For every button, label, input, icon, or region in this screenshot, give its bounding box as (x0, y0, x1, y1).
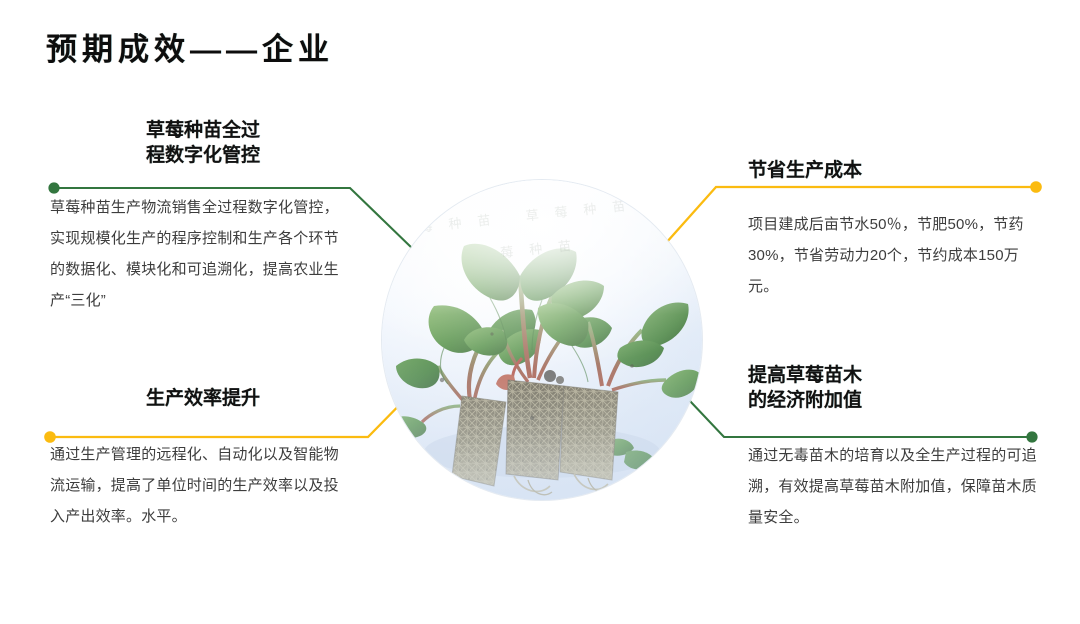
block-digital: 草莓种苗全过 程数字化管控 草莓种苗生产物流销售全过程数字化管控，实现规模化生产… (50, 118, 350, 316)
block-efficiency: 生产效率提升 通过生产管理的远程化、自动化以及智能物流运输，提高了单位时间的生产… (50, 386, 350, 532)
block-value-heading: 提高草莓苗木 的经济附加值 (748, 363, 1038, 413)
block-digital-heading-line-1: 草莓种苗全过 (56, 118, 350, 143)
strawberry-seedling-photo: 草莓种苗 草莓种苗 草莓种苗 (382, 180, 702, 500)
block-digital-heading: 草莓种苗全过 程数字化管控 (50, 118, 350, 168)
block-cost: 节省生产成本 项目建成后亩节水50％，节肥50%，节药30%，节省劳动力20个，… (748, 158, 1038, 302)
block-cost-heading-line-1: 节省生产成本 (748, 158, 1038, 183)
block-value-body: 通过无毒苗木的培育以及全生产过程的可追溯，有效提高草莓苗木附加值，保障苗木质量安… (748, 440, 1038, 533)
block-cost-body: 项目建成后亩节水50％，节肥50%，节药30%，节省劳动力20个，节约成本150… (748, 209, 1038, 302)
block-value-heading-line-2: 的经济附加值 (748, 388, 1038, 413)
block-efficiency-heading-line-1: 生产效率提升 (56, 386, 350, 411)
block-efficiency-heading: 生产效率提升 (50, 386, 350, 411)
block-digital-body: 草莓种苗生产物流销售全过程数字化管控，实现规模化生产的程序控制和生产各个环节的数… (50, 192, 350, 316)
block-value-heading-line-1: 提高草莓苗木 (748, 363, 1038, 388)
block-value: 提高草莓苗木 的经济附加值 通过无毒苗木的培育以及全生产过程的可追溯，有效提高草… (748, 363, 1038, 533)
block-cost-heading: 节省生产成本 (748, 158, 1038, 183)
slide-canvas: 预期成效——企业 (0, 0, 1080, 624)
block-efficiency-body: 通过生产管理的远程化、自动化以及智能物流运输，提高了单位时间的生产效率以及投入产… (50, 439, 350, 532)
block-digital-heading-line-2: 程数字化管控 (56, 143, 350, 168)
